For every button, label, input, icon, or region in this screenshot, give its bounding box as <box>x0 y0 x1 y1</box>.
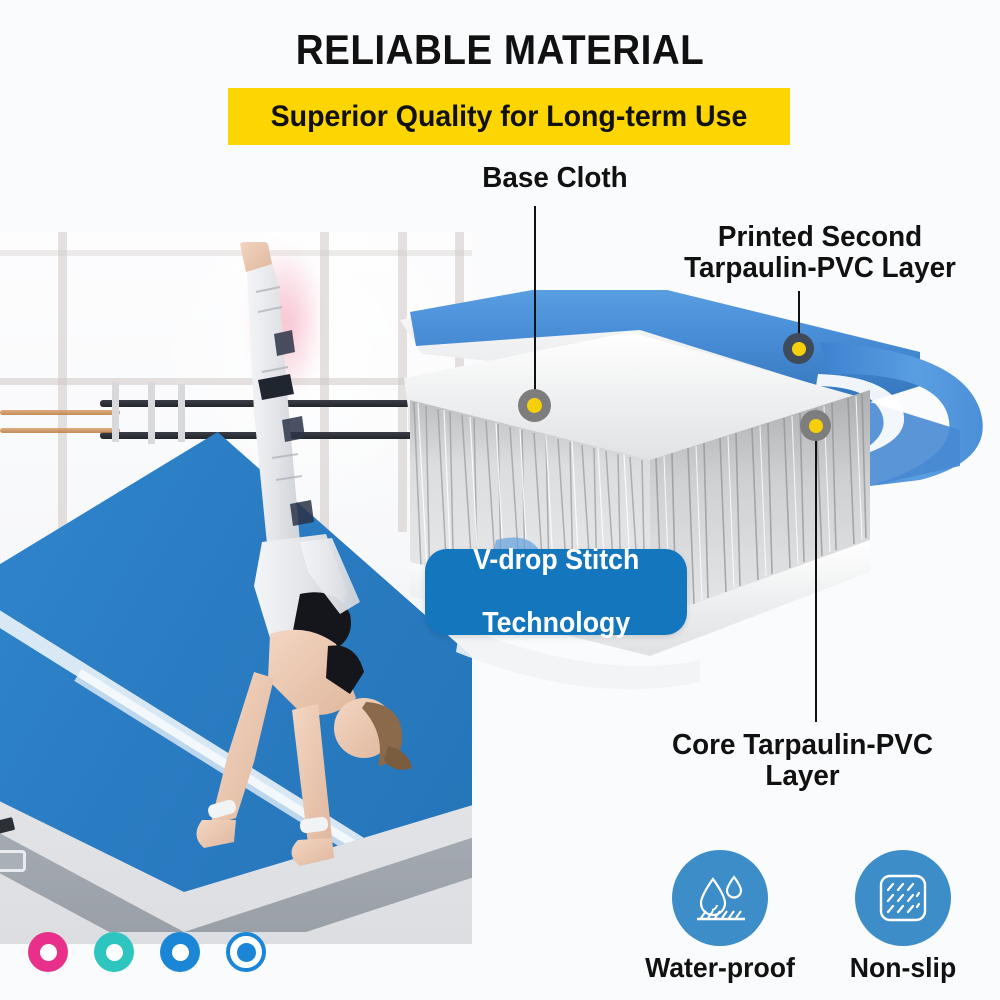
base-cloth-text: Base Cloth <box>482 162 627 194</box>
printed-line-1: Printed Second <box>647 222 993 253</box>
callout-dot-base-cloth <box>518 389 551 422</box>
callout-label-printed-second: Printed Second Tarpaulin-PVC Layer <box>647 222 993 283</box>
color-swatch-blue[interactable] <box>160 932 200 972</box>
non-slip-icon-circle <box>855 850 951 946</box>
color-swatch-list <box>28 932 266 972</box>
badge-line-2: Technology <box>473 608 639 639</box>
swatch-hole <box>106 944 123 961</box>
color-swatch-pink[interactable] <box>28 932 68 972</box>
mat-valve-tab <box>0 817 15 836</box>
feature-non-slip: Non-slip <box>828 850 978 984</box>
non-slip-label: Non-slip <box>832 952 975 984</box>
subtitle-band: Superior Quality for Long-term Use <box>228 88 790 145</box>
v-drop-badge-text: V-drop Stitch Technology <box>469 545 642 639</box>
water-drop-icon <box>689 867 751 929</box>
swatch-hole <box>40 944 57 961</box>
infographic-canvas: RELIABLE MATERIAL Superior Quality for L… <box>0 0 1000 1000</box>
color-swatch-blue-selected[interactable] <box>226 932 266 972</box>
leader-line-core-layer <box>815 425 817 722</box>
callout-dot-core-layer <box>800 410 831 441</box>
feature-water-proof: Water-proof <box>620 850 820 984</box>
ballet-barre <box>0 410 120 415</box>
page-subtitle: Superior Quality for Long-term Use <box>242 88 776 145</box>
page-title: RELIABLE MATERIAL <box>40 26 960 74</box>
swatch-hole <box>172 944 189 961</box>
callout-label-base-cloth: Base Cloth <box>445 163 666 194</box>
core-line-1: Core Tarpaulin-PVC <box>618 730 988 761</box>
v-drop-stitch-badge: V-drop Stitch Technology <box>425 549 687 635</box>
callout-label-core-layer: Core Tarpaulin-PVC Layer <box>618 730 988 791</box>
color-swatch-teal[interactable] <box>94 932 134 972</box>
cutaway-svg <box>400 290 1000 760</box>
water-proof-icon-circle <box>672 850 768 946</box>
layer-cutaway-diagram <box>400 290 1000 760</box>
callout-dot-printed-second <box>783 333 814 364</box>
core-line-2: Layer <box>618 761 988 792</box>
badge-line-1: V-drop Stitch <box>473 545 639 576</box>
mat-handle-strap <box>0 850 26 872</box>
leader-line-base-cloth <box>534 206 536 402</box>
water-proof-label: Water-proof <box>625 952 815 984</box>
non-slip-texture-icon <box>874 869 932 927</box>
printed-line-2: Tarpaulin-PVC Layer <box>647 253 993 284</box>
swatch-core <box>237 943 256 962</box>
